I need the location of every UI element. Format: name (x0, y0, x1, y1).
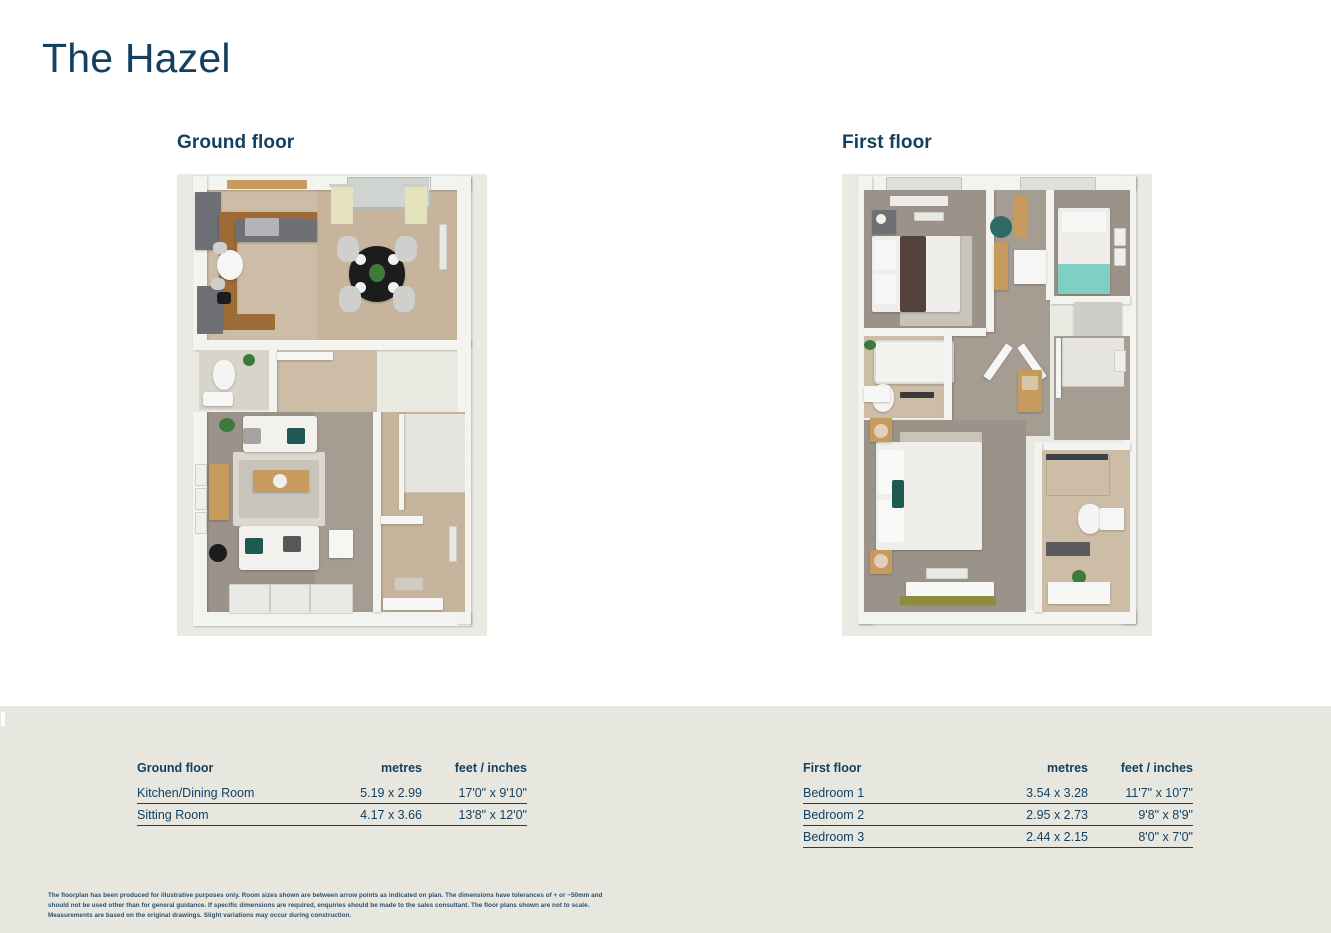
first-floor-3d-plan-image (842, 174, 1152, 636)
bedroom2-throw (900, 236, 926, 312)
room-metres: 2.95 x 2.73 (953, 804, 1088, 826)
landing-pouffe (990, 216, 1012, 238)
coffee-table-decor (273, 474, 287, 488)
bedroom2-pillow-1 (874, 240, 896, 270)
stair-balustrade (399, 414, 404, 510)
stool-1 (213, 242, 227, 254)
ground-table-title: Ground floor (137, 761, 287, 782)
bedroom1-bench-throw (900, 596, 996, 605)
partition-wall-mid (193, 340, 471, 350)
bathroom-towel-rail (900, 392, 934, 398)
bathroom-top-wall (864, 328, 986, 336)
hall-plant (243, 354, 255, 366)
ensuite-towel-radiator (1046, 542, 1090, 556)
bedroom3-partition (1046, 190, 1054, 300)
ensuite-left-wall (1034, 442, 1042, 612)
fw-stair-step-4 (1062, 374, 1124, 387)
room-feet: 17'0" x 9'10" (422, 782, 527, 804)
ground-table-metres-header: metres (287, 761, 422, 782)
table-row: Bedroom 2 2.95 x 2.73 9'8" x 8'9" (803, 804, 1193, 826)
front-door-mat (395, 578, 423, 590)
bedroom2-partition (986, 190, 994, 332)
bedroom3-wardrobe (1074, 302, 1122, 336)
sofa-top-cushion (287, 428, 305, 444)
room-metres: 3.54 x 3.28 (953, 782, 1088, 804)
bedroom3-throw (1058, 264, 1110, 294)
room-feet: 11'7" x 10'7" (1088, 782, 1193, 804)
stair-step-4 (403, 453, 465, 467)
curtain-rail-left (329, 184, 355, 187)
ensuite-shower-screen (1046, 454, 1108, 460)
front-door (383, 598, 443, 610)
wall-cabinet-run (227, 180, 307, 189)
room-name: Bedroom 3 (803, 826, 953, 848)
table-row: Bedroom 1 3.54 x 3.28 11'7" x 10'7" (803, 782, 1193, 804)
room-metres: 2.44 x 2.15 (953, 826, 1088, 848)
bedroom2-dresser (890, 196, 948, 206)
disclaimer-text: The floorplan has been produced for illu… (48, 891, 610, 922)
wc-toilet (213, 360, 235, 390)
bedroom2-radiator (914, 212, 944, 221)
first-table-feet-header: feet / inches (1088, 761, 1193, 782)
wc-basin (203, 392, 233, 406)
landing-wall-art (1114, 350, 1126, 372)
floor-lamp-base (209, 544, 227, 562)
breakfast-table (217, 250, 243, 280)
curtain-rail-right (403, 184, 429, 187)
ensuite-top-wall (1038, 442, 1130, 450)
radiator-hall (449, 526, 457, 562)
table-header-row: Ground floor metres feet / inches (137, 761, 527, 782)
wc-partition-wall (269, 350, 277, 412)
wc-door (277, 352, 333, 360)
front-window-mullion-1 (269, 584, 271, 612)
stool-3 (217, 292, 231, 304)
sideboard (209, 464, 229, 520)
sofa-bottom-cushion-teal (245, 538, 263, 554)
stair-step-1 (403, 414, 465, 428)
table-row: Sitting Room 4.17 x 3.66 13'8" x 12'0" (137, 804, 527, 826)
bathroom-basin (864, 386, 890, 402)
bedroom1-lamp-1 (874, 424, 888, 438)
wall-art-2 (195, 488, 207, 510)
sideboard-plant (219, 418, 235, 432)
radiator-kitchen (439, 224, 447, 270)
room-metres: 5.19 x 2.99 (287, 782, 422, 804)
stair-step-3 (403, 440, 465, 454)
ground-floor-panel: Ground floor (177, 132, 487, 636)
sitting-room-partition (373, 412, 381, 612)
first-table-title: First floor (803, 761, 953, 782)
bathroom-plant (864, 340, 876, 350)
dining-chair-4 (393, 286, 415, 312)
first-floor-panel: First floor (842, 132, 1152, 636)
room-name: Bedroom 2 (803, 804, 953, 826)
dining-chair-3 (339, 286, 361, 312)
ground-floor-heading: Ground floor (177, 132, 487, 154)
sofa-bottom-cushion-grey (283, 536, 301, 552)
fw-stair-balustrade (1056, 338, 1061, 398)
ensuite-toilet (1078, 504, 1102, 534)
bedroom2-pillow-2 (874, 274, 896, 304)
first-floor-heading: First floor (842, 132, 1152, 154)
exterior-wall-right-upper (457, 176, 471, 346)
kitchen-peninsula (219, 314, 275, 330)
table-header-row: First floor metres feet / inches (803, 761, 1193, 782)
landing-console-table (994, 242, 1008, 290)
band-edge-mark (1, 712, 5, 726)
bedroom3-pillow (1062, 212, 1106, 232)
side-console (329, 530, 353, 558)
bedroom2-bedside-lamp (876, 214, 886, 224)
page-title: The Hazel (42, 36, 231, 81)
wall-art-1 (195, 464, 207, 486)
kitchen-sink (245, 218, 279, 236)
stair-step-5 (403, 466, 465, 480)
wall-art-3 (195, 512, 207, 534)
room-name: Kitchen/Dining Room (137, 782, 287, 804)
ensuite-cabinet (1048, 582, 1110, 604)
stair-step-6 (403, 479, 465, 493)
kitchen-hob (281, 218, 301, 236)
room-name: Sitting Room (137, 804, 287, 826)
bedroom1-lamp-2 (874, 554, 888, 568)
sofa-top-cushion-grey (243, 428, 261, 444)
room-feet: 13'8" x 12'0" (422, 804, 527, 826)
room-name: Bedroom 1 (803, 782, 953, 804)
room-feet: 9'8" x 8'9" (1088, 804, 1193, 826)
ensuite-basin (1100, 508, 1124, 530)
room-feet: 8'0" x 7'0" (1088, 826, 1193, 848)
specification-band: Ground floor metres feet / inches Kitche… (0, 706, 1331, 933)
exterior-wall-bottom (193, 612, 471, 626)
ground-floor-3d-plan-image (177, 174, 487, 636)
bedroom1-radiator (926, 568, 968, 579)
bedroom1-accent-cushion (892, 480, 904, 508)
understairs-cupboard-door (381, 516, 423, 524)
first-floor-dimensions-table: First floor metres feet / inches Bedroom… (803, 761, 1193, 848)
bedroom3-wall-art-1 (1114, 228, 1126, 246)
ground-floor-dimensions-table: Ground floor metres feet / inches Kitche… (137, 761, 527, 826)
table-centrepiece-plant (369, 264, 385, 282)
ensuite-shower-tray (1046, 454, 1110, 496)
curtain-left (331, 186, 353, 224)
bathroom-bath (874, 340, 954, 384)
landing-desk-decor (1022, 376, 1038, 390)
first-table-metres-header: metres (953, 761, 1088, 782)
front-window-bay (229, 584, 353, 614)
bedroom3-wall-art-2 (1114, 248, 1126, 266)
bathroom-right-wall (944, 336, 952, 420)
fw-exterior-wall-bottom (858, 610, 1136, 624)
table-row: Kitchen/Dining Room 5.19 x 2.99 17'0" x … (137, 782, 527, 804)
room-metres: 4.17 x 3.66 (287, 804, 422, 826)
table-row: Bedroom 3 2.44 x 2.15 8'0" x 7'0" (803, 826, 1193, 848)
dining-chair-2 (395, 236, 417, 262)
dining-chair-1 (337, 236, 359, 262)
front-window-mullion-2 (309, 584, 311, 612)
landing-side-unit (1014, 250, 1046, 284)
ground-table-feet-header: feet / inches (422, 761, 527, 782)
stair-step-2 (403, 427, 465, 441)
stool-2 (211, 278, 225, 290)
curtain-right (405, 186, 427, 224)
landing-tall-cabinet (1014, 196, 1028, 238)
